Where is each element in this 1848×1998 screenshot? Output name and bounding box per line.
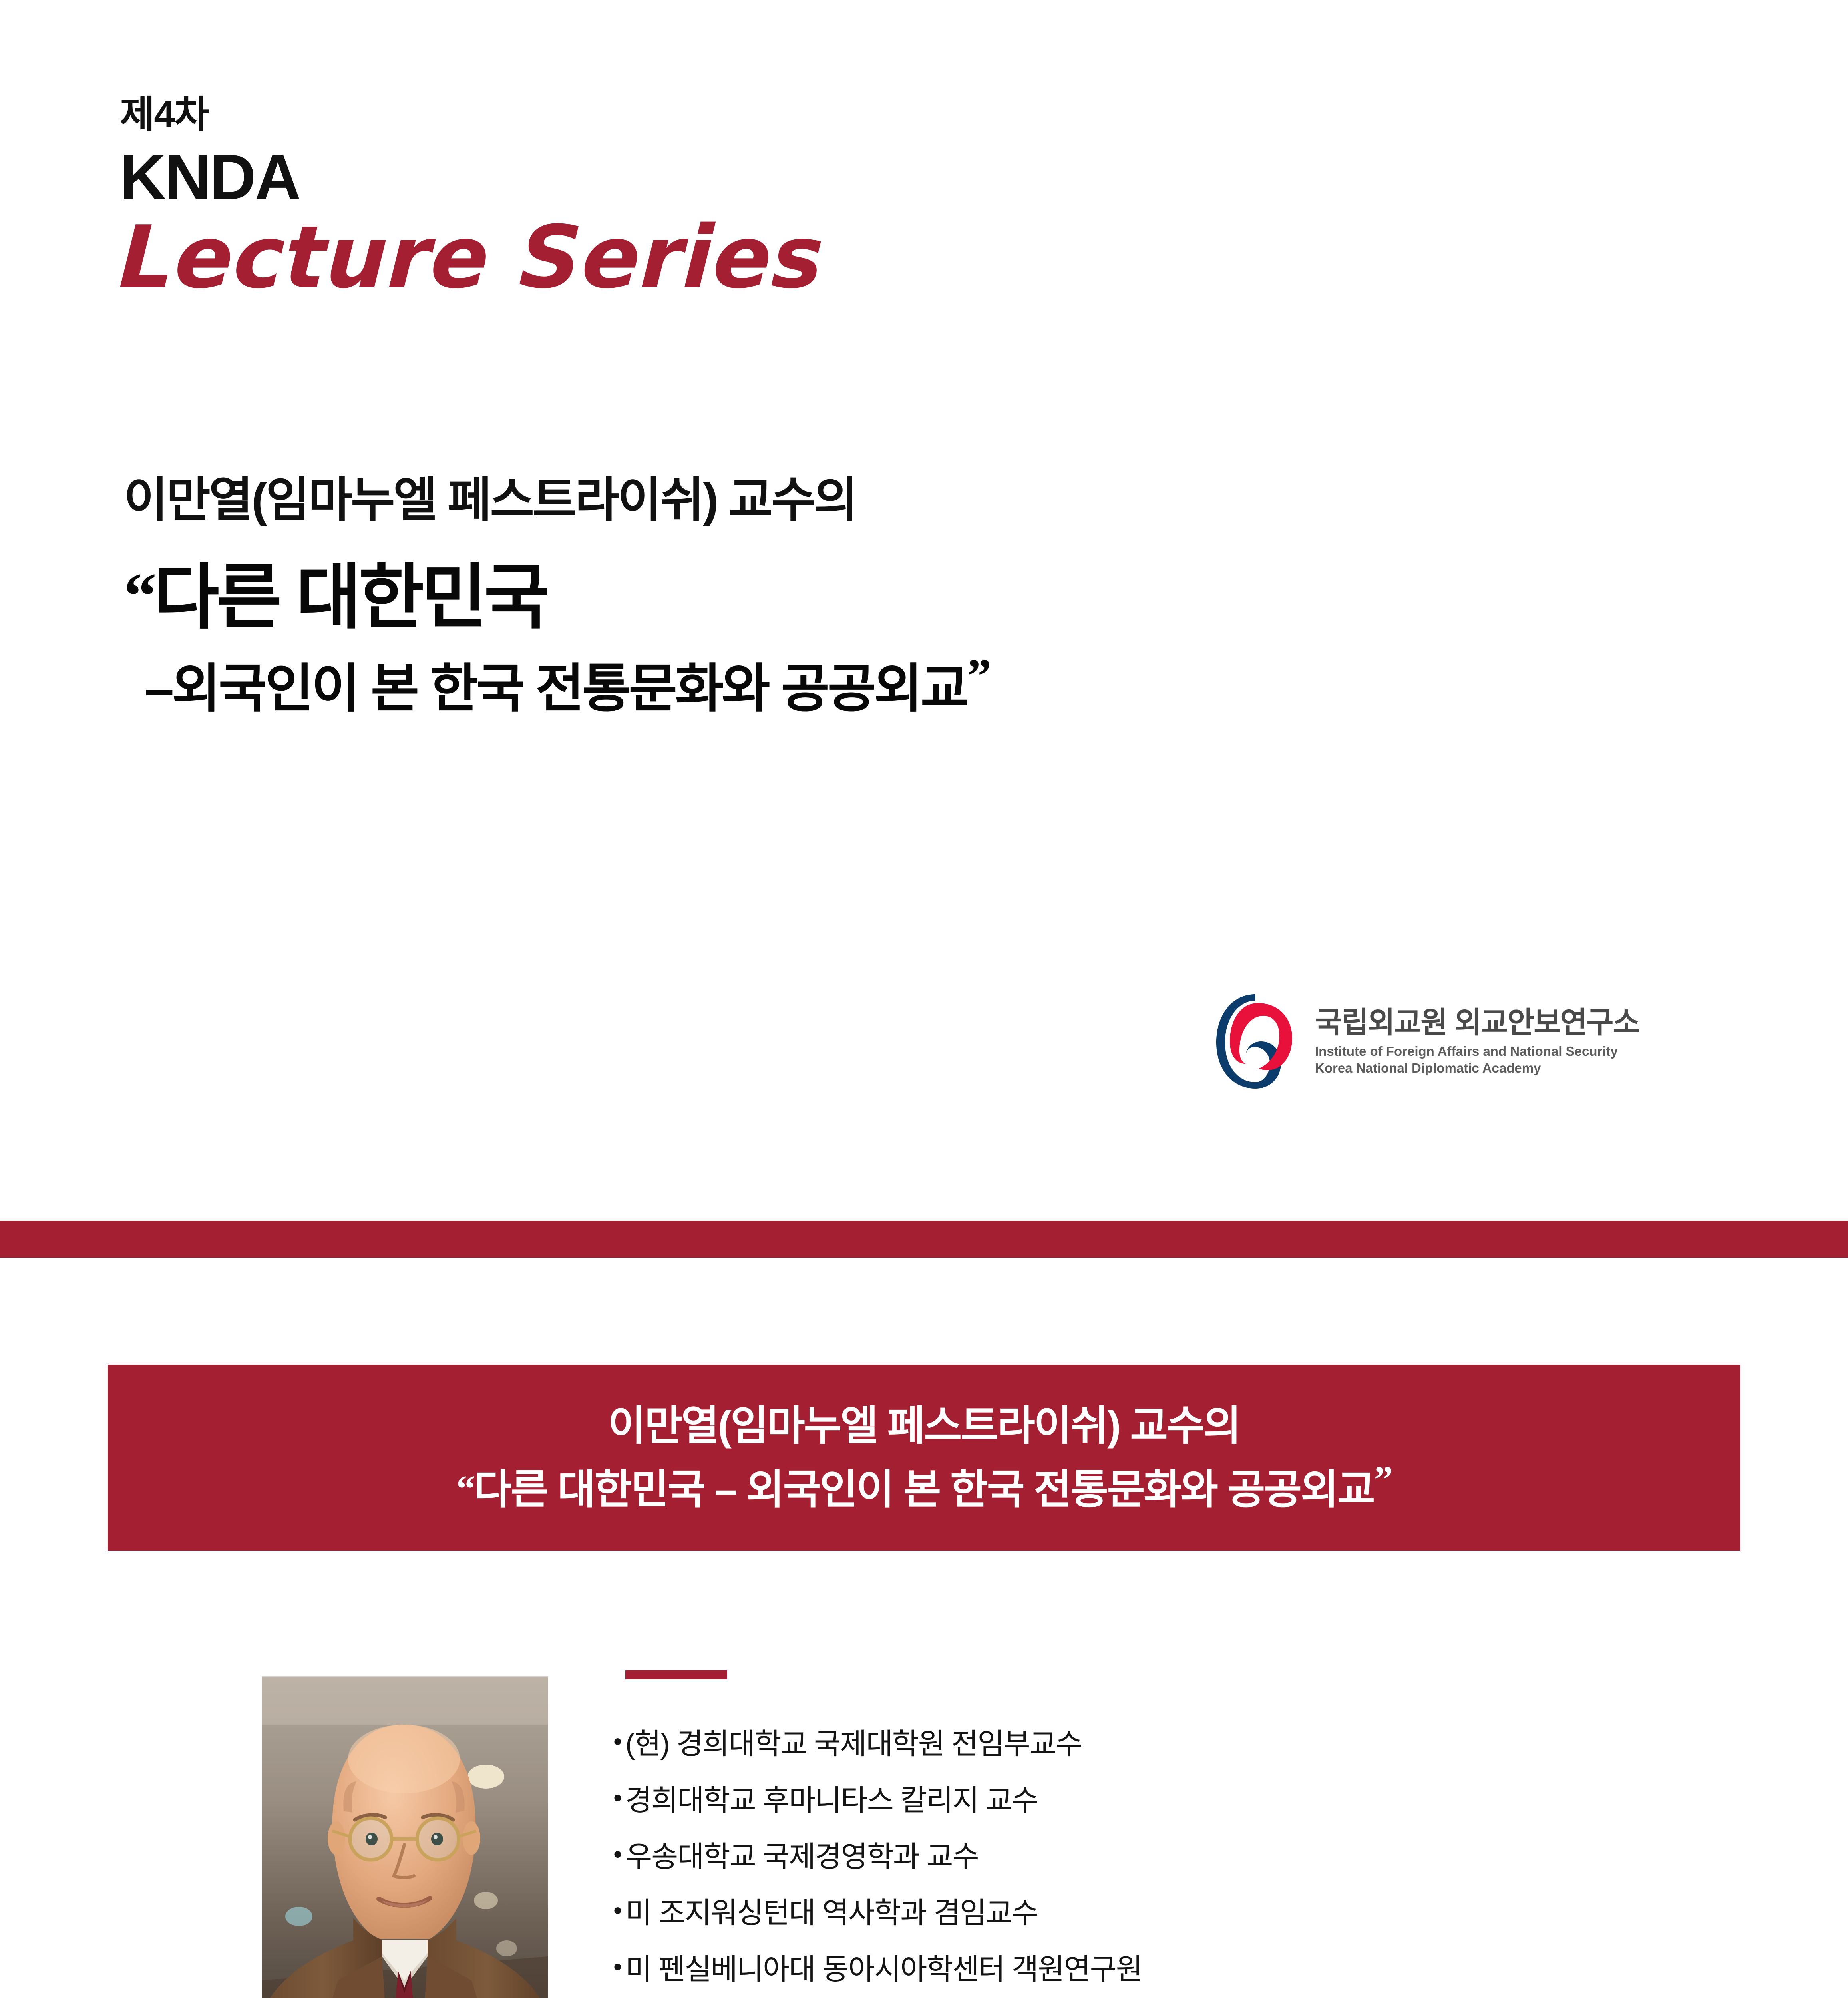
list-item: • (현) 경희대학교 국제대학원 전임부교수 bbox=[613, 1726, 1732, 1762]
logo-english-line2: Korea National Diplomatic Academy bbox=[1315, 1061, 1639, 1075]
speaker-bio-list: • (현) 경희대학교 국제대학원 전임부교수 • 경희대학교 후마니타스 칼리… bbox=[613, 1726, 1732, 1987]
main-title-line2: –외국인이 본 한국 전통문화와 공공외교” bbox=[145, 647, 1602, 720]
quote-open-icon: “ bbox=[124, 560, 154, 632]
banner-line2-text: 다른 대한민국 – 외국인이 본 한국 전통문화와 공공외교 bbox=[474, 1467, 1374, 1512]
quote-close-icon: ” bbox=[967, 649, 989, 703]
title-speaker-line: 이만열(임마누엘 페스트라이쉬) 교수의 bbox=[124, 474, 1602, 526]
bullet-icon: • bbox=[613, 1783, 625, 1814]
bio-text: 미 조지워싱턴대 역사학과 겸임교수 bbox=[625, 1895, 1038, 1931]
taegeuk-logo-icon bbox=[1211, 991, 1301, 1091]
banner-line2: “다른 대한민국 – 외국인이 본 한국 전통문화와 공공외교” bbox=[456, 1458, 1392, 1513]
bullet-icon: • bbox=[613, 1895, 625, 1926]
bio-text: 경희대학교 후마니타스 칼리지 교수 bbox=[625, 1783, 1038, 1818]
main-title-line1: “다른 대한민국 bbox=[124, 557, 1602, 637]
bullet-icon: • bbox=[613, 1952, 625, 1983]
header-kicker: 제4차 bbox=[120, 96, 1319, 134]
bio-text: 우송대학교 국제경영학과 교수 bbox=[625, 1839, 979, 1875]
main-title-line2-text: –외국인이 본 한국 전통문화와 공공외교 bbox=[145, 659, 967, 718]
list-item: • 우송대학교 국제경영학과 교수 bbox=[613, 1839, 1732, 1875]
poster-header: 제4차 KNDA Lecture Series bbox=[120, 96, 1319, 301]
list-item: • 미 펜실베니아대 동아시아학센터 객원연구원 bbox=[613, 1952, 1732, 1987]
main-title-line1-text: 다른 대한민국 bbox=[154, 557, 547, 637]
speaker-photo bbox=[262, 1676, 548, 1998]
main-title: “다른 대한민국 –외국인이 본 한국 전통문화와 공공외교” bbox=[124, 557, 1602, 720]
banner-quote-close-icon: ” bbox=[1374, 1459, 1392, 1500]
logo-english-line1: Institute of Foreign Affairs and Nationa… bbox=[1315, 1045, 1639, 1058]
header-lecture-series: Lecture Series bbox=[117, 213, 1321, 301]
list-item: • 경희대학교 후마니타스 칼리지 교수 bbox=[613, 1783, 1732, 1818]
bullet-icon: • bbox=[613, 1839, 625, 1870]
banner-line1: 이만열(임마누엘 페스트라이쉬) 교수의 bbox=[608, 1402, 1240, 1449]
knda-logo: 국립외교원 외교안보연구소 Institute of Foreign Affai… bbox=[1211, 991, 1639, 1091]
list-item: • 미 조지워싱턴대 역사학과 겸임교수 bbox=[613, 1895, 1732, 1931]
banner-quote-open-icon: “ bbox=[456, 1468, 474, 1510]
bullet-icon: • bbox=[613, 1726, 625, 1757]
red-divider-band bbox=[0, 1221, 1848, 1258]
title-block: 이만열(임마누엘 페스트라이쉬) 교수의 “다른 대한민국 –외국인이 본 한국… bbox=[124, 474, 1602, 720]
bio-rule-top bbox=[625, 1670, 727, 1679]
bio-text: (현) 경희대학교 국제대학원 전임부교수 bbox=[625, 1726, 1082, 1762]
logo-text-block: 국립외교원 외교안보연구소 Institute of Foreign Affai… bbox=[1315, 1008, 1639, 1075]
header-knda-wordmark: KNDA bbox=[120, 143, 1319, 212]
lecture-title-banner: 이만열(임마누엘 페스트라이쉬) 교수의 “다른 대한민국 – 외국인이 본 한… bbox=[108, 1365, 1740, 1551]
logo-korean-name: 국립외교원 외교안보연구소 bbox=[1315, 1008, 1639, 1037]
bio-text: 미 펜실베니아대 동아시아학센터 객원연구원 bbox=[625, 1952, 1142, 1987]
